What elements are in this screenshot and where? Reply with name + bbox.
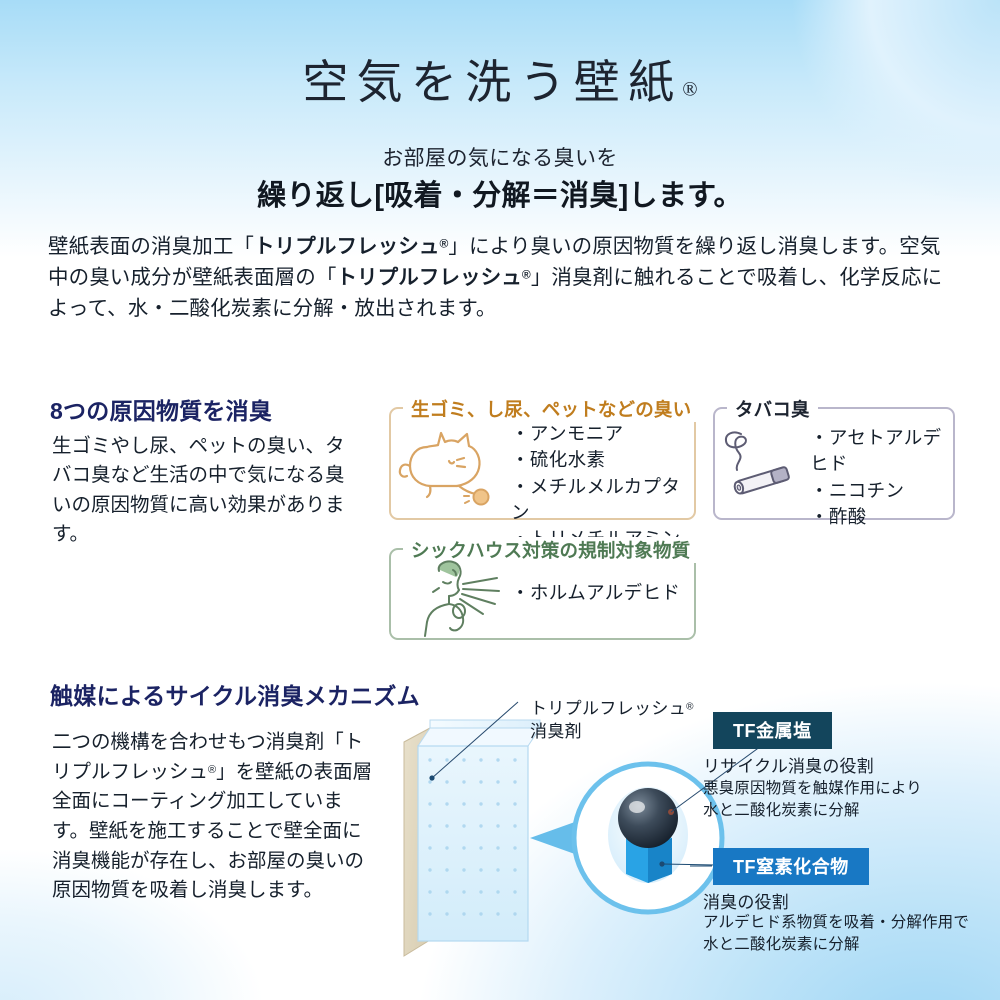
coughing-man-icon [413,558,505,643]
agent-label-a: トリプルフレッシュ [530,699,686,718]
page-title-text: 空気を洗う壁紙 [302,57,682,108]
list-item: ・ホルムアルデヒド [511,580,680,606]
tag-tf-metal-salt: TF金属塩 [713,712,832,749]
odor-box-sickhouse: シックハウス対策の規制対象物質 [389,548,696,640]
lead-text-a: 壁紙表面の消臭加工「 [48,235,254,258]
odor-box-sickhouse-list: ・ホルムアルデヒド [511,580,680,606]
tf-metal-salt-role: リサイクル消臭の役割 [703,752,874,777]
list-item: ・酢酸 [810,504,953,530]
brand-name-1: トリプルフレッシュ [254,235,439,258]
tag-tf-nitrogen-compound: TF窒素化合物 [713,848,869,885]
section-2-heading: 触媒によるサイクル消臭メカニズム [50,677,420,711]
registered-trademark-icon: ® [208,764,216,776]
odor-box-kitchen-title: 生ゴミ、し尿、ペットなどの臭い [403,396,699,422]
registered-trademark-icon: ® [682,79,697,101]
subtitle-line-2: 繰り返し[吸着・分解＝消臭]します。 [0,172,1000,214]
list-item: ・アセトアルデヒド [810,425,953,478]
odor-box-tobacco-title: タバコ臭 [727,396,818,422]
subtitle-line-1: お部屋の気になる臭いを [0,142,1000,172]
odor-box-tobacco-list: ・アセトアルデヒド ・ニコチン ・酢酸 [810,425,953,530]
cigarette-icon [721,425,807,508]
lead-paragraph: 壁紙表面の消臭加工「トリプルフレッシュ®」により臭いの原因物質を繰り返し消臭しま… [48,231,953,324]
odor-box-kitchen-list: ・アンモニア ・硫化水素 ・メチルメルカプタン ・トリメチルアミン [511,421,694,552]
list-item: ・ニコチン [810,478,953,504]
brand-name-2: トリプルフレッシュ [336,266,521,289]
tf-nitrogen-detail: アルデヒド系物質を吸着・分解作用で 水と二酸化炭素に分解 [703,912,969,957]
page-title: 空気を洗う壁紙® [0,46,1000,112]
section-2-body: 二つの機構を合わせもつ消臭剤「トリプルフレッシュ®」を壁紙の表面層全面にコーティ… [52,728,377,906]
triple-fresh-agent-label: トリプルフレッシュ®消臭剤 [530,698,694,744]
agent-label-b: 消臭剤 [530,722,582,741]
mechanism-diagram: トリプルフレッシュ®消臭剤 TF金属塩 リサイクル消臭の役割 悪臭原因物質を触媒… [390,690,1000,990]
registered-trademark-icon: ® [686,702,694,713]
tf-nitrogen-role: 消臭の役割 [703,888,789,913]
list-item: ・硫化水素 [511,447,694,473]
odor-box-kitchen: 生ゴミ、し尿、ペットなどの臭い [389,407,696,520]
list-item: ・メチルメルカプタン [511,474,694,527]
tf-metal-salt-detail: 悪臭原因物質を触媒作用により 水と二酸化炭素に分解 [703,778,922,823]
cat-icon [397,425,505,512]
registered-trademark-icon: ® [522,268,531,282]
list-item: ・アンモニア [511,421,694,447]
odor-box-tobacco: タバコ臭 ・アセトアルデヒド ・ニコチン ・酢酸 [713,407,955,520]
section-1-heading: 8つの原因物質を消臭 [50,392,272,426]
infographic-page: 空気を洗う壁紙® お部屋の気になる臭いを 繰り返し[吸着・分解＝消臭]します。 … [0,0,1000,1000]
section-1-body: 生ゴミやし尿、ペットの臭い、タバコ臭など生活の中で気になる臭いの原因物質に高い効… [52,432,352,549]
